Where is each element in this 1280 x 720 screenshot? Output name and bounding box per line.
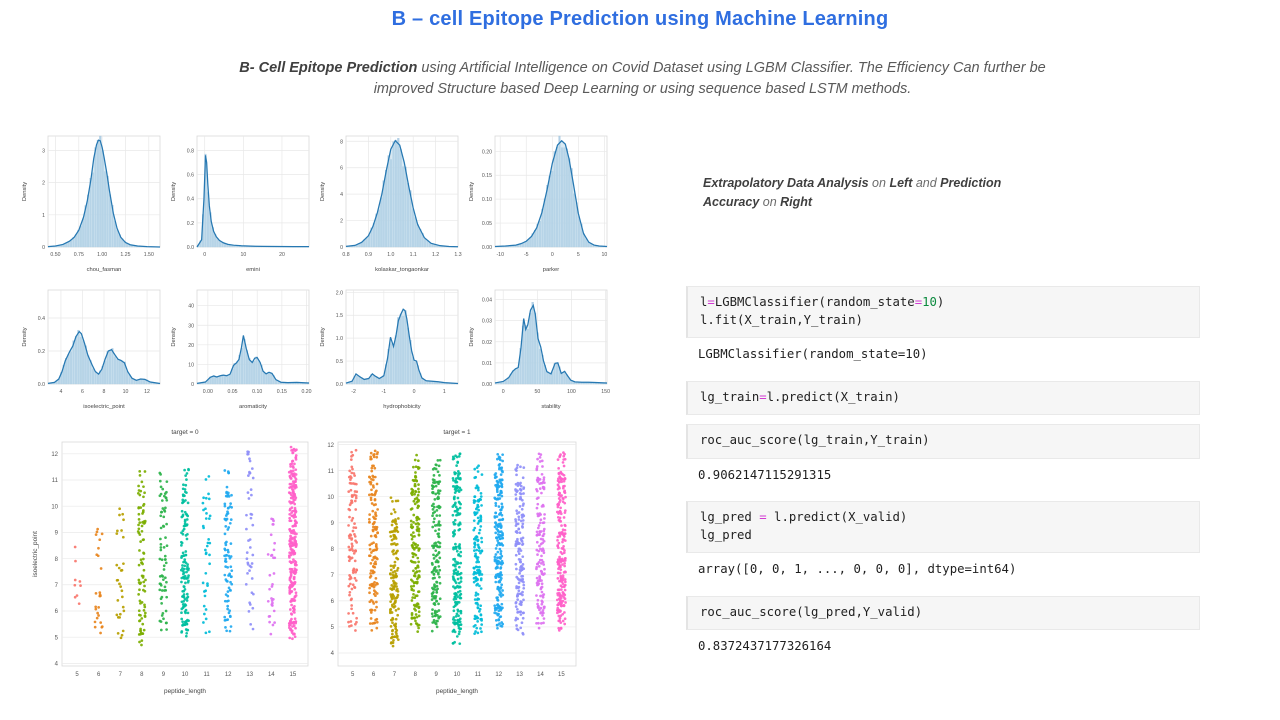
x-tick: 8 [414, 672, 418, 678]
y-tick: 0.05 [482, 221, 492, 227]
eda-note-part-1: on [869, 176, 890, 190]
x-tick: 1.50 [144, 252, 154, 258]
y-tick: 0.4 [38, 316, 45, 322]
x-tick: 6 [372, 672, 376, 678]
y-tick: 20 [188, 343, 194, 349]
code-token: = [707, 295, 714, 309]
x-tick: 8 [103, 389, 106, 395]
page-subtitle: B- Cell Epitope Prediction using Artific… [225, 58, 1060, 100]
plot-container-kolaskar_tongaonkar: 0.80.91.01.11.21.302468kolaskar_tongaonk… [316, 128, 466, 273]
y-tick: 2 [42, 181, 45, 187]
y-tick: 0.04 [482, 298, 492, 304]
y-tick: 8 [331, 547, 335, 553]
code-token: = [915, 295, 922, 309]
x-axis-label: hydrophobicity [383, 404, 420, 410]
x-tick: 1 [443, 389, 446, 395]
x-tick: 15 [290, 672, 297, 678]
plot-container-chou_fasman: 0.500.751.001.251.500123chou_fasmanDensi… [18, 128, 168, 273]
x-tick: 12 [144, 389, 150, 395]
x-tick: 11 [203, 672, 210, 678]
code-token: 10 [922, 295, 937, 309]
y-tick: 6 [340, 166, 343, 172]
x-tick: 0.75 [74, 252, 84, 258]
y-tick: 0.20 [482, 149, 492, 155]
y-axis-label: Density [320, 182, 326, 201]
density-chart-stability: 0501001500.000.010.020.030.04stabilityDe… [465, 282, 615, 410]
x-tick: 100 [567, 389, 576, 395]
scatter-chart-scatter-target-0: target = 056789101112131415456789101112p… [28, 424, 318, 696]
x-axis-label: stability [541, 404, 560, 410]
x-tick: -5 [524, 252, 529, 258]
x-tick: 0 [413, 389, 416, 395]
x-tick: 0 [502, 389, 505, 395]
y-tick: 1.5 [336, 313, 343, 319]
x-tick: -2 [351, 389, 356, 395]
x-tick: 0.9 [365, 252, 372, 258]
plot-container-emini: 010200.00.20.40.60.8eminiDensity [167, 128, 317, 273]
roc-valid-output: 0.8372437177326164 [686, 636, 1200, 658]
y-tick: 0.5 [336, 359, 343, 365]
roc-train-output: 0.9062147115291315 [686, 465, 1200, 487]
predict-train-cell[interactable]: lg_train=l.predict(X_train) [686, 381, 1200, 416]
y-tick: 0.2 [38, 349, 45, 355]
density-chart-parker: -10-505100.000.050.100.150.20parkerDensi… [465, 128, 615, 273]
roc-valid-cell[interactable]: roc_auc_score(lg_pred,Y_valid) [686, 596, 1200, 631]
x-tick: 5 [577, 252, 580, 258]
notebook-code-panel: l=LGBMClassifier(random_state=10) l.fit(… [686, 286, 1200, 673]
plot-container-scatter-target-1: target = 156789101112131415456789101112p… [318, 424, 586, 696]
x-tick: 20 [279, 252, 285, 258]
density-chart-isoelectric_point: 46810120.00.20.4isoelectric_pointDensity [18, 282, 168, 410]
y-tick: 0.0 [187, 245, 194, 251]
plot-container-parker: -10-505100.000.050.100.150.20parkerDensi… [465, 128, 615, 273]
y-tick: 12 [327, 443, 334, 449]
y-tick: 0.6 [187, 173, 194, 179]
y-tick: 8 [340, 139, 343, 145]
eda-note-part-0: Extrapolatory Data Analysis [703, 176, 869, 190]
eda-note-part-6: Right [780, 195, 812, 209]
x-axis-label: aromaticity [239, 404, 267, 410]
y-tick: 0.2 [187, 221, 194, 227]
plot-container-aromaticity: 0.000.050.100.150.20010203040aromaticity… [167, 282, 317, 410]
y-tick: 11 [328, 469, 335, 475]
predict-valid-cell[interactable]: lg_pred = l.predict(X_valid) lg_pred [686, 501, 1200, 553]
x-axis-label: chou_fasman [87, 267, 122, 273]
x-tick: 150 [601, 389, 610, 395]
x-tick: 0 [203, 252, 206, 258]
roc-train-cell[interactable]: roc_auc_score(lg_train,Y_train) [686, 424, 1200, 459]
fit-output: LGBMClassifier(random_state=10) [686, 344, 1200, 366]
y-tick: 1.0 [336, 336, 343, 342]
x-tick: 1.3 [454, 252, 461, 258]
x-tick: 12 [225, 672, 232, 678]
y-tick: 11 [52, 478, 59, 484]
y-tick: 30 [188, 323, 194, 329]
x-tick: 10 [123, 389, 129, 395]
x-tick: 0.50 [50, 252, 60, 258]
x-tick: -10 [496, 252, 504, 258]
x-tick: 1.00 [97, 252, 107, 258]
y-tick: 1 [42, 213, 45, 219]
y-tick: 6 [55, 609, 59, 615]
fit-cell[interactable]: l=LGBMClassifier(random_state=10) l.fit(… [686, 286, 1200, 338]
density-chart-chou_fasman: 0.500.751.001.251.500123chou_fasmanDensi… [18, 128, 168, 273]
x-tick: 50 [534, 389, 540, 395]
x-tick: 10 [454, 672, 461, 678]
x-tick: 10 [240, 252, 246, 258]
x-tick: 10 [602, 252, 608, 258]
y-axis-label: Density [171, 327, 177, 346]
x-tick: 8 [140, 672, 144, 678]
x-tick: 11 [475, 672, 482, 678]
x-tick: 0.10 [252, 389, 262, 395]
y-tick: 2.0 [336, 290, 343, 296]
y-tick: 40 [188, 304, 194, 310]
y-tick: 0.00 [482, 382, 492, 388]
x-tick: 5 [351, 672, 355, 678]
x-axis-label: peptide_length [164, 688, 206, 695]
x-tick: 9 [162, 672, 166, 678]
y-tick: 4 [340, 192, 343, 198]
x-tick: 1.25 [120, 252, 130, 258]
y-tick: 9 [55, 531, 59, 537]
density-chart-hydrophobicity: -2-1010.00.51.01.52.0hydrophobicityDensi… [316, 282, 466, 410]
plot-container-isoelectric_point: 46810120.00.20.4isoelectric_pointDensity [18, 282, 168, 410]
y-tick: 10 [51, 504, 58, 510]
x-tick: 14 [268, 672, 275, 678]
y-tick: 7 [331, 573, 335, 579]
y-tick: 0.0 [336, 382, 343, 388]
y-tick: 5 [55, 635, 59, 641]
y-tick: 0.15 [482, 173, 492, 179]
y-axis-label: Density [320, 327, 326, 346]
y-axis-label: Density [171, 182, 177, 201]
density-chart-kolaskar_tongaonkar: 0.80.91.01.11.21.302468kolaskar_tongaonk… [316, 128, 466, 273]
y-tick: 2 [340, 219, 343, 225]
plot-container-scatter-target-0: target = 056789101112131415456789101112p… [28, 424, 318, 696]
y-axis-label: isoelectric_point [32, 531, 39, 577]
x-tick: 13 [246, 672, 253, 678]
predict-valid-output: array([0, 0, 1, ..., 0, 0, 0], dtype=int… [686, 559, 1200, 581]
y-tick: 0 [340, 245, 343, 251]
x-tick: 0.00 [203, 389, 213, 395]
density-chart-aromaticity: 0.000.050.100.150.20010203040aromaticity… [167, 282, 317, 410]
y-tick: 8 [55, 557, 59, 563]
y-tick: 9 [331, 521, 335, 527]
x-tick: 0.20 [301, 389, 311, 395]
x-tick: 1.1 [410, 252, 417, 258]
y-tick: 0 [42, 245, 45, 251]
x-tick: 1.2 [432, 252, 439, 258]
x-tick: 7 [119, 672, 123, 678]
x-tick: 10 [182, 672, 189, 678]
y-tick: 0.8 [187, 148, 194, 154]
eda-annotation: Extrapolatory Data Analysis on Left and … [703, 174, 1053, 212]
x-tick: 0.15 [277, 389, 287, 395]
y-tick: 0.00 [482, 245, 492, 251]
y-tick: 7 [55, 583, 59, 589]
y-tick: 3 [42, 148, 45, 154]
x-tick: 7 [393, 672, 397, 678]
y-tick: 6 [331, 599, 335, 605]
plot-container-hydrophobicity: -2-1010.00.51.01.52.0hydrophobicityDensi… [316, 282, 466, 410]
y-tick: 0.4 [187, 197, 194, 203]
y-axis-label: Density [22, 182, 28, 201]
x-axis-label: kolaskar_tongaonkar [375, 267, 429, 273]
eda-note-part-3: and [912, 176, 940, 190]
page-title: B – cell Epitope Prediction using Machin… [0, 8, 1280, 31]
plot-container-stability: 0501001500.000.010.020.030.04stabilityDe… [465, 282, 615, 410]
y-tick: 4 [331, 651, 335, 657]
code-token: = [759, 510, 766, 524]
x-tick: 0 [551, 252, 554, 258]
x-tick: 9 [434, 672, 438, 678]
subtitle-rest: using Artificial Intelligence on Covid D… [374, 60, 1046, 97]
y-axis-label: Density [469, 327, 475, 346]
x-tick: 12 [495, 672, 502, 678]
x-tick: 15 [558, 672, 565, 678]
y-tick: 0.01 [482, 361, 492, 367]
y-tick: 0.03 [482, 319, 492, 325]
y-tick: 5 [331, 625, 335, 631]
x-axis-label: emini [246, 267, 260, 273]
y-tick: 0.02 [482, 340, 492, 346]
x-axis-label: parker [543, 267, 560, 273]
x-tick: 0.8 [342, 252, 349, 258]
x-tick: 6 [97, 672, 101, 678]
facet-title: target = 1 [443, 429, 471, 436]
eda-note-part-5: on [759, 195, 780, 209]
x-axis-label: peptide_length [436, 688, 478, 695]
y-tick: 12 [51, 452, 58, 458]
code-token: = [759, 390, 766, 404]
x-tick: 0.05 [227, 389, 237, 395]
x-tick: 14 [537, 672, 544, 678]
x-tick: 6 [81, 389, 84, 395]
y-axis-label: Density [22, 327, 28, 346]
y-tick: 10 [327, 495, 334, 501]
y-axis-label: Density [469, 182, 475, 201]
density-chart-emini: 010200.00.20.40.60.8eminiDensity [167, 128, 317, 273]
y-tick: 0 [191, 382, 194, 388]
y-tick: 10 [188, 362, 194, 368]
y-tick: 0.0 [38, 382, 45, 388]
eda-note-part-2: Left [889, 176, 912, 190]
y-tick: 4 [55, 662, 59, 668]
subtitle-lead: B- Cell Epitope Prediction [239, 60, 417, 76]
x-tick: 5 [75, 672, 79, 678]
x-axis-label: isoelectric_point [83, 404, 125, 410]
facet-title: target = 0 [171, 429, 199, 436]
x-tick: 1.0 [387, 252, 394, 258]
scatter-chart-scatter-target-1: target = 156789101112131415456789101112p… [318, 424, 586, 696]
x-tick: 13 [516, 672, 523, 678]
y-tick: 0.10 [482, 197, 492, 203]
x-tick: -1 [382, 389, 387, 395]
x-tick: 4 [59, 389, 62, 395]
